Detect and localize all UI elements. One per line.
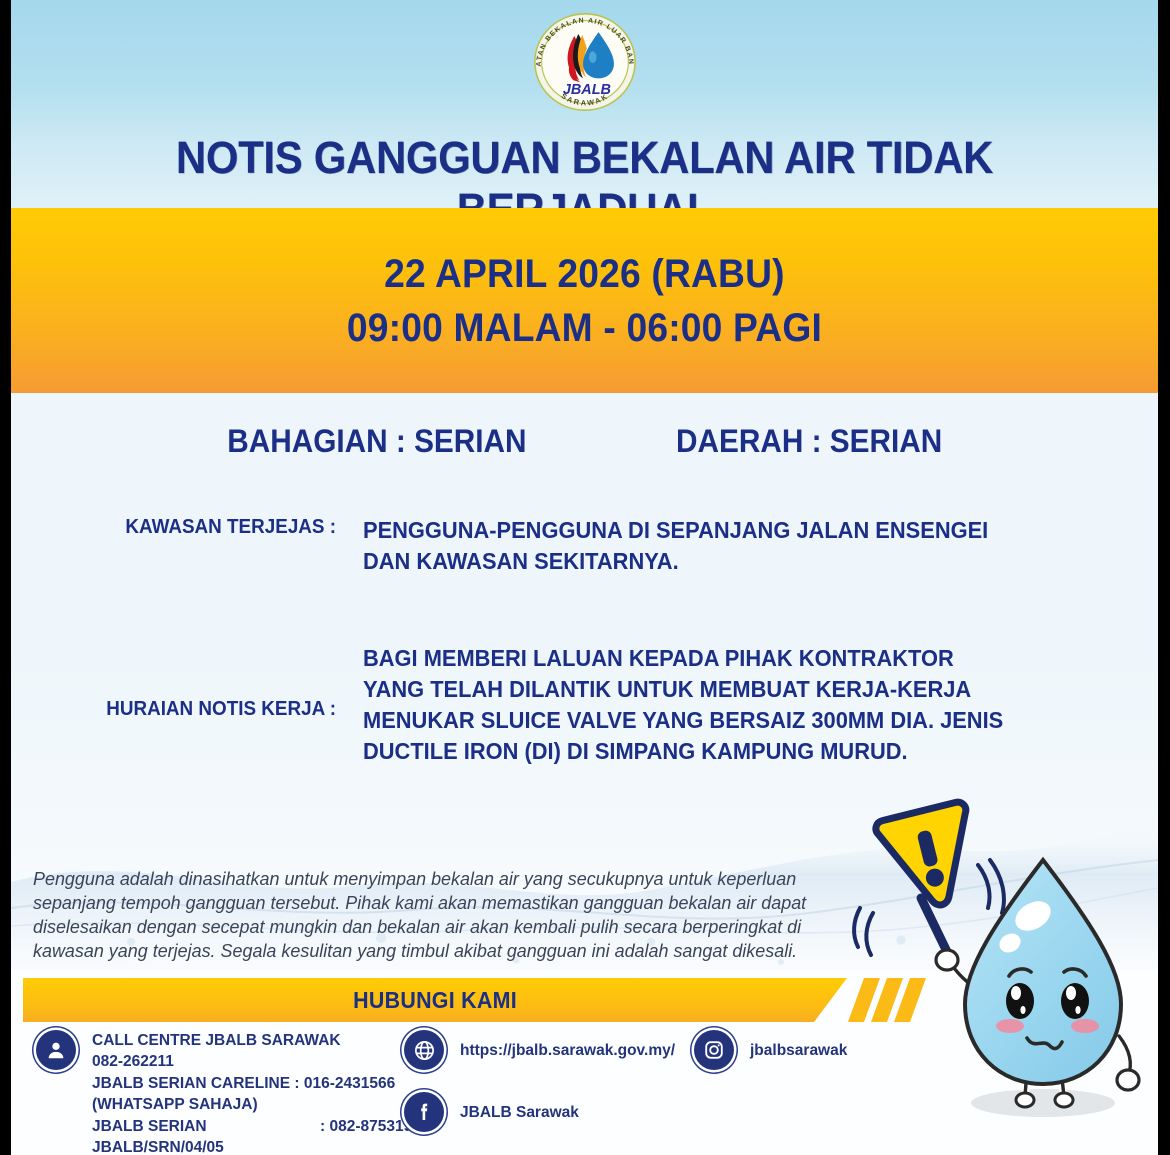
- division-label: BAHAGIAN : SERIAN: [228, 423, 527, 460]
- jbalb-logo: JBALB JABATAN BEKALAN AIR LUAR BANDAR SA…: [11, 6, 1158, 118]
- call-centre-line-5: JBALB SERIAN : 082-875319: [92, 1116, 412, 1137]
- date-time-band: 22 APRIL 2026 (RABU) 09:00 MALAM - 06:00…: [11, 208, 1158, 393]
- disclaimer-text: Pengguna adalah dinasihatkan untuk menyi…: [33, 867, 809, 963]
- notice-reference-number: JBALB/SRN/04/05: [92, 1137, 412, 1155]
- work-description-section: HURAIAN NOTIS KERJA : BAGI MEMBERI LALUA…: [11, 643, 1158, 767]
- affected-area-section: KAWASAN TERJEJAS : PENGGUNA-PENGGUNA DI …: [11, 515, 1158, 577]
- warning-triangle-icon: [874, 800, 987, 915]
- jbalb-serian-key: JBALB SERIAN: [92, 1116, 320, 1137]
- call-centre-text: CALL CENTRE JBALB SARAWAK 082-262211 JBA…: [92, 1030, 412, 1155]
- work-description-value: BAGI MEMBERI LALUAN KEPADA PIHAK KONTRAK…: [363, 643, 1066, 767]
- affected-line-2: DAN KAWASAN SEKITARNYA.: [363, 546, 1066, 577]
- water-droplet-mascot: [847, 788, 1158, 1155]
- contact-website[interactable]: https://jbalb.sarawak.gov.my/: [404, 1030, 675, 1070]
- work-description-label: HURAIAN NOTIS KERJA :: [25, 643, 349, 721]
- affected-line-1: PENGGUNA-PENGGUNA DI SEPANJANG JALAN ENS…: [363, 515, 1066, 546]
- instagram-handle: jbalbsarawak: [750, 1030, 847, 1061]
- instagram-icon: [694, 1030, 734, 1070]
- notice-poster: JBALB JABATAN BEKALAN AIR LUAR BANDAR SA…: [0, 0, 1170, 1155]
- work-line-3: MENUKAR SLUICE VALVE YANG BERSAIZ 300MM …: [363, 705, 1066, 736]
- notice-time: 09:00 MALAM - 06:00 PAGI: [347, 304, 822, 352]
- work-line-1: BAGI MEMBERI LALUAN KEPADA PIHAK KONTRAK…: [363, 643, 1066, 674]
- facebook-icon: [404, 1092, 444, 1132]
- facebook-name: JBALB Sarawak: [460, 1092, 579, 1123]
- contact-facebook[interactable]: JBALB Sarawak: [404, 1092, 579, 1132]
- contact-instagram[interactable]: jbalbsarawak: [694, 1030, 847, 1070]
- person-icon: [36, 1030, 76, 1070]
- notice-date: 22 APRIL 2026 (RABU): [384, 250, 785, 298]
- jbalb-serian-value: : 082-875319: [320, 1116, 412, 1137]
- district-label: DAERAH : SERIAN: [676, 423, 942, 460]
- globe-icon: [404, 1030, 444, 1070]
- jbalb-logo-icon: JBALB JABATAN BEKALAN AIR LUAR BANDAR SA…: [527, 9, 643, 115]
- call-centre-line-3: JBALB SERIAN CARELINE : 016-2431566: [92, 1073, 412, 1094]
- call-centre-line-4: (WHATSAPP SAHAJA): [92, 1094, 412, 1115]
- contact-heading: HUBUNGI KAMI: [353, 987, 517, 1014]
- call-centre-line-2: 082-262211: [92, 1051, 412, 1072]
- contact-call-centre[interactable]: CALL CENTRE JBALB SARAWAK 082-262211 JBA…: [36, 1030, 412, 1155]
- work-line-4: DUCTILE IRON (DI) DI SIMPANG KAMPUNG MUR…: [363, 736, 1066, 767]
- poster-canvas: JBALB JABATAN BEKALAN AIR LUAR BANDAR SA…: [11, 0, 1158, 1155]
- affected-area-label: KAWASAN TERJEJAS :: [25, 515, 349, 539]
- work-line-2: YANG TELAH DILANTIK UNTUK MEMBUAT KERJA-…: [363, 674, 1066, 705]
- contact-heading-bar: HUBUNGI KAMI: [23, 978, 847, 1022]
- website-url: https://jbalb.sarawak.gov.my/: [460, 1030, 675, 1061]
- affected-area-value: PENGGUNA-PENGGUNA DI SEPANJANG JALAN ENS…: [363, 515, 1066, 577]
- region-row: BAHAGIAN : SERIAN DAERAH : SERIAN: [11, 423, 1158, 460]
- call-centre-line-1: CALL CENTRE JBALB SARAWAK: [92, 1030, 412, 1051]
